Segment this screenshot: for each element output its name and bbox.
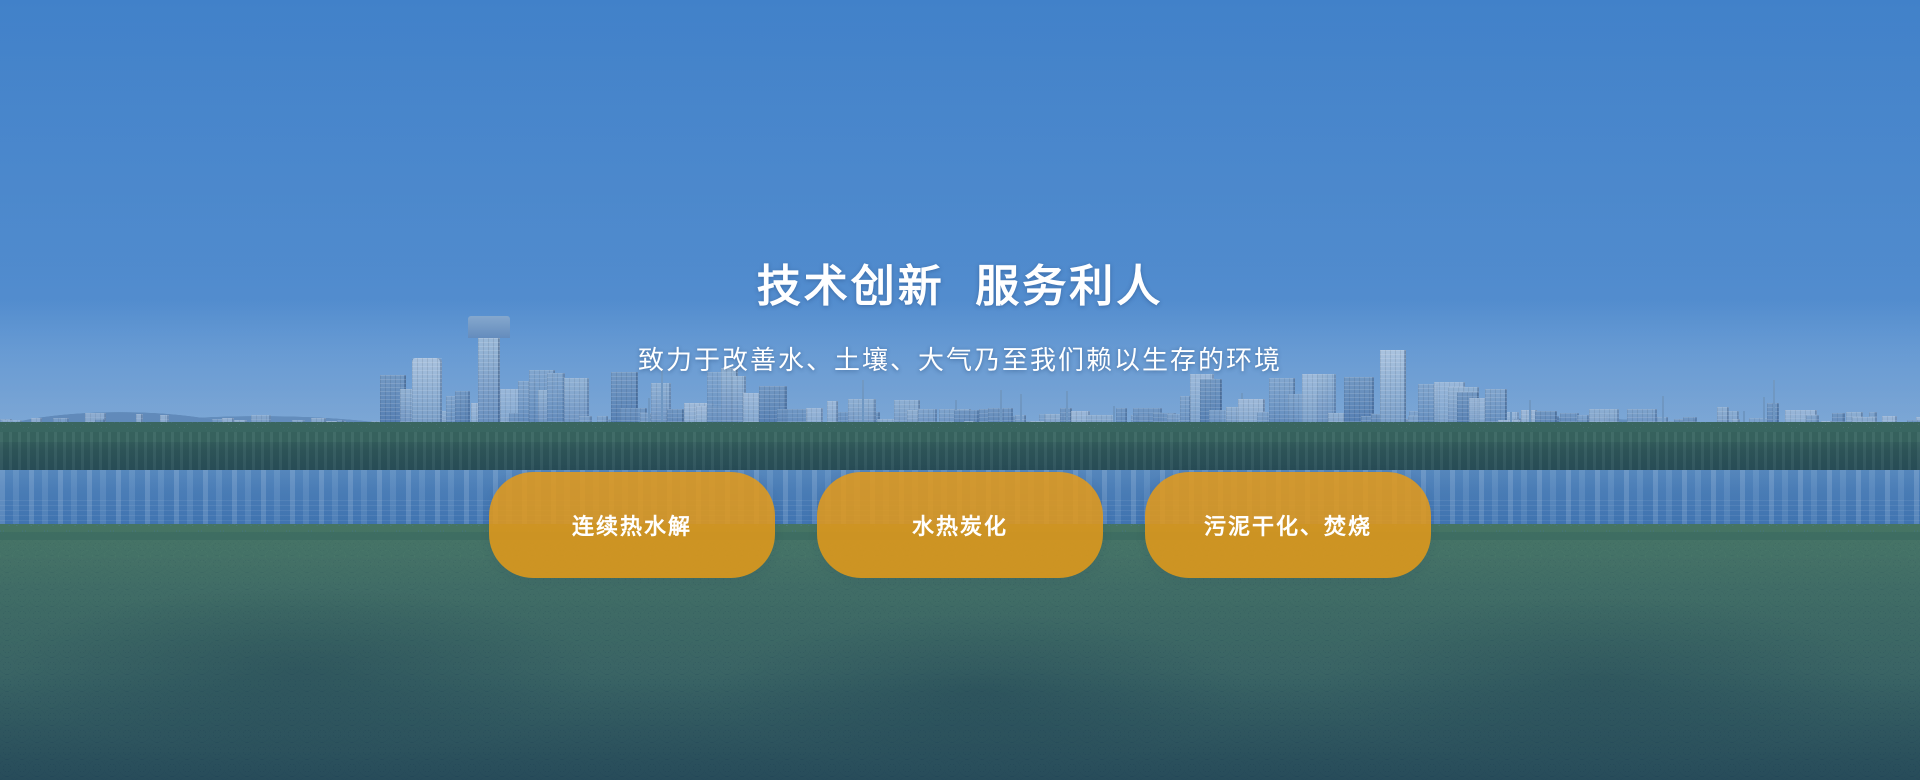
hero-banner: 技术创新 服务利人 致力于改善水、土壤、大气乃至我们赖以生存的环境 连续热水解 …: [0, 0, 1920, 780]
hero-content: 技术创新 服务利人 致力于改善水、土壤、大气乃至我们赖以生存的环境 连续热水解 …: [0, 0, 1920, 780]
cta-button-row: 连续热水解 水热炭化 污泥干化、焚烧: [0, 472, 1920, 578]
page-title: 技术创新 服务利人: [0, 265, 1920, 309]
page-subtitle: 致力于改善水、土壤、大气乃至我们赖以生存的环境: [0, 345, 1920, 376]
cta-button-continuous-thermal-hydrolysis[interactable]: 连续热水解: [489, 472, 775, 578]
cta-button-sludge-drying-incineration[interactable]: 污泥干化、焚烧: [1145, 472, 1431, 578]
cta-button-hydrothermal-carbonization[interactable]: 水热炭化: [817, 472, 1103, 578]
